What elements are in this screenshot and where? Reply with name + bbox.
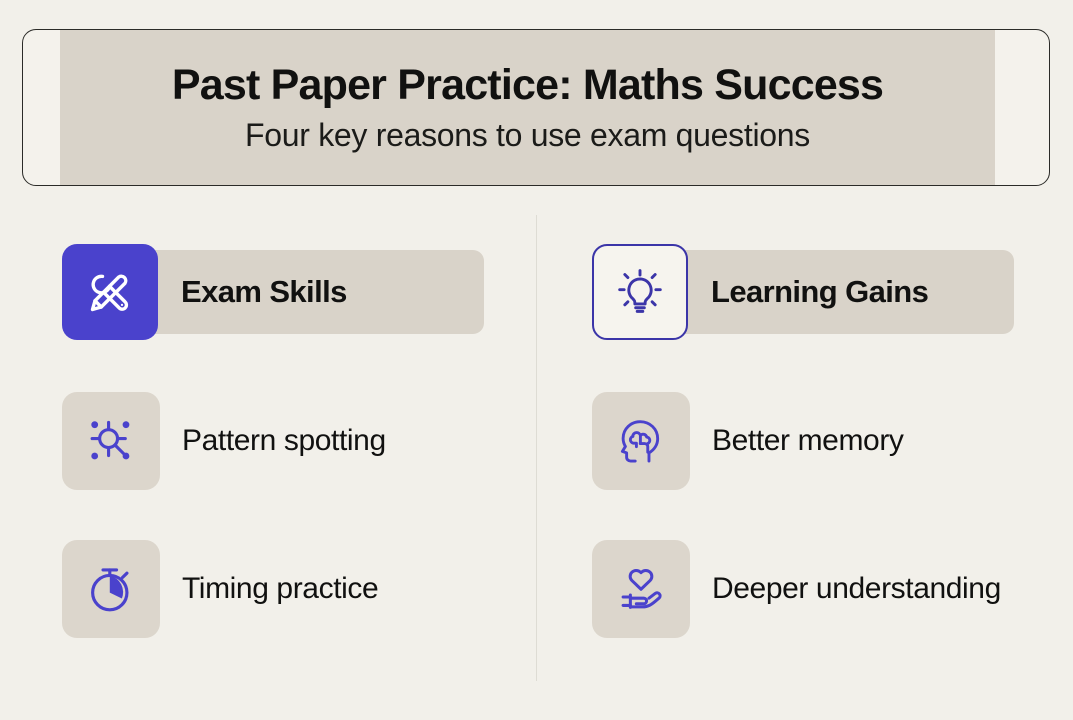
- column-divider: [536, 215, 537, 681]
- item-label: Timing practice: [182, 569, 378, 609]
- item-icon-tile: [62, 540, 160, 638]
- category-label: Exam Skills: [181, 274, 347, 310]
- list-item[interactable]: Timing practice: [62, 540, 492, 638]
- category-icon-tile: [62, 244, 158, 340]
- head-brain-icon: [612, 412, 670, 470]
- list-item[interactable]: Better memory: [592, 392, 1022, 490]
- pattern-search-icon: [82, 412, 140, 470]
- page-subtitle: Four key reasons to use exam questions: [245, 119, 810, 151]
- hand-heart-icon: [612, 560, 670, 618]
- item-icon-tile: [592, 540, 690, 638]
- item-label: Better memory: [712, 421, 904, 461]
- item-label: Pattern spotting: [182, 421, 386, 461]
- category-header-learning-gains[interactable]: Learning Gains: [592, 244, 1014, 340]
- list-item[interactable]: Pattern spotting: [62, 392, 492, 490]
- item-icon-tile: [62, 392, 160, 490]
- content-columns: Exam Skills: [0, 215, 1073, 685]
- category-label: Learning Gains: [711, 274, 928, 310]
- header-card: Past Paper Practice: Maths Success Four …: [22, 29, 1050, 186]
- lightbulb-icon: [612, 264, 668, 320]
- category-icon-tile: [592, 244, 688, 340]
- stopwatch-icon: [82, 560, 140, 618]
- category-header-exam-skills[interactable]: Exam Skills: [62, 244, 484, 340]
- item-label: Deeper understanding: [712, 569, 1001, 609]
- list-item[interactable]: Deeper understanding: [592, 540, 1022, 638]
- header-panel: Past Paper Practice: Maths Success Four …: [60, 30, 995, 185]
- item-icon-tile: [592, 392, 690, 490]
- wrench-pencil-icon: [80, 262, 140, 322]
- page-title: Past Paper Practice: Maths Success: [172, 64, 883, 107]
